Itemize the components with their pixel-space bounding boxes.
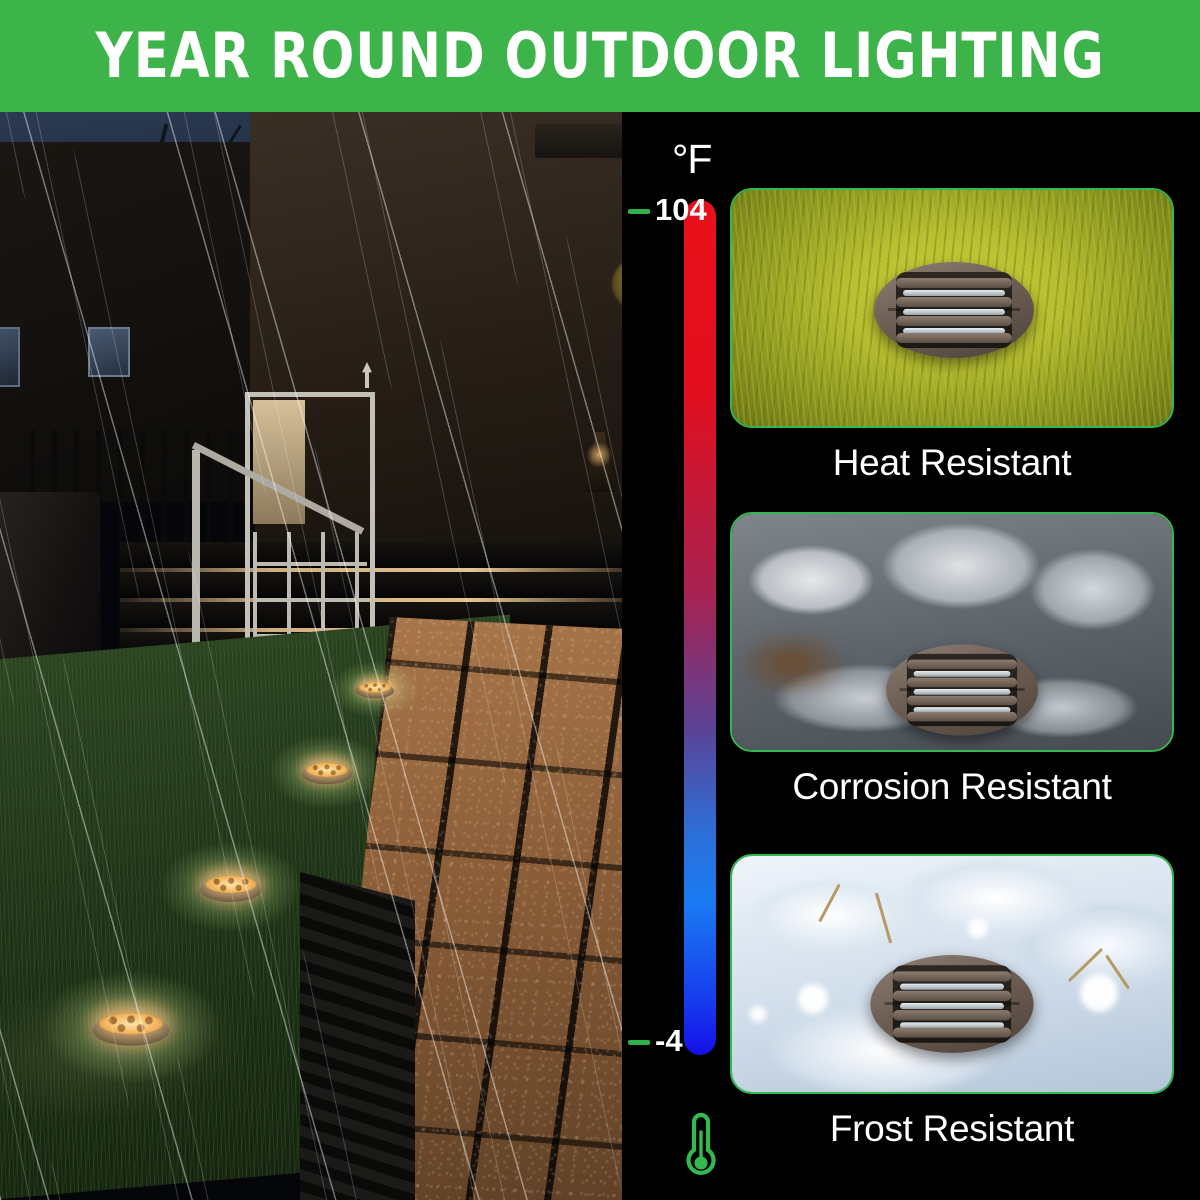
temperature-unit-label: °F <box>672 136 711 183</box>
page-title: YEAR ROUND OUTDOOR LIGHTING <box>95 20 1104 92</box>
feature-card-frost-label: Frost Resistant <box>730 1108 1174 1150</box>
deck-light-fixture <box>870 955 1033 1053</box>
max-temperature-tick <box>628 209 650 214</box>
deck-light-fixture <box>886 644 1038 735</box>
min-temperature-tick <box>628 1040 650 1045</box>
product-infographic: YEAR ROUND OUTDOOR LIGHTING <box>0 0 1200 1200</box>
awning <box>535 124 622 158</box>
feature-card-frost[interactable]: Frost Resistant <box>730 854 1174 1150</box>
feature-card-corrosion[interactable]: Corrosion Resistant <box>730 512 1174 808</box>
deck-light-fixture <box>874 262 1034 358</box>
snowflake <box>750 1006 766 1022</box>
feature-cards: Heat Resistant Corrosion <box>730 112 1200 1200</box>
ground-light <box>356 680 395 699</box>
window <box>0 327 20 387</box>
feature-card-corrosion-label: Corrosion Resistant <box>730 766 1174 808</box>
dirt-patch <box>732 628 852 698</box>
ground-light <box>302 760 352 784</box>
porch-lamp-glow <box>586 442 612 468</box>
temperature-gradient-bar <box>684 200 716 1055</box>
hero-photo: IP67 Waterproof <box>0 112 622 1200</box>
heat-scene-image <box>730 188 1174 428</box>
feature-card-heat[interactable]: Heat Resistant <box>730 188 1174 484</box>
ground-light <box>93 1008 170 1045</box>
feature-card-heat-label: Heat Resistant <box>730 442 1174 484</box>
snowflake <box>1080 974 1118 1012</box>
snowflake <box>798 984 828 1014</box>
plant <box>612 248 622 320</box>
max-temperature-value: 104 <box>655 192 707 228</box>
snowflake <box>968 918 988 938</box>
header-banner: YEAR ROUND OUTDOOR LIGHTING <box>0 0 1200 112</box>
min-temperature-value: -4 <box>655 1023 683 1059</box>
thermometer-icon <box>680 1112 722 1178</box>
corrosion-scene-image <box>730 512 1174 752</box>
lawn-edging <box>300 872 415 1200</box>
window <box>88 327 130 377</box>
frost-scene-image <box>730 854 1174 1094</box>
ground-light <box>200 872 262 902</box>
temperature-range-scale: °F 104 -4 <box>622 112 730 1200</box>
